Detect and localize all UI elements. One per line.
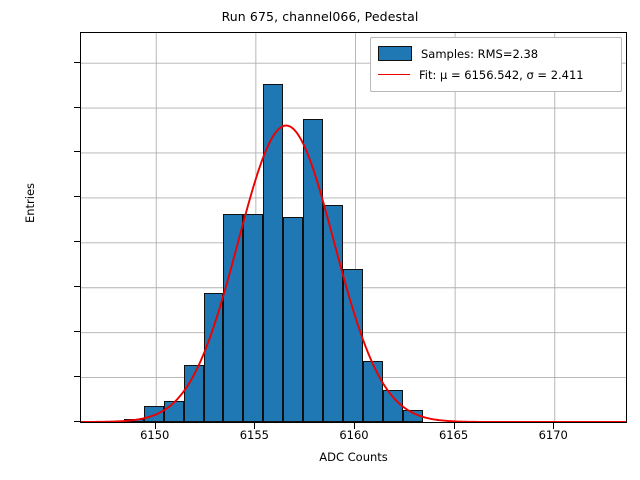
y-tick-mark — [74, 151, 80, 152]
x-axis-label: ADC Counts — [80, 450, 627, 464]
y-tick-mark — [74, 376, 80, 377]
x-tick-mark — [354, 423, 355, 429]
y-tick-mark — [74, 107, 80, 108]
x-tick-mark — [254, 423, 255, 429]
x-tick-label: 6155 — [214, 428, 294, 442]
x-tick-label: 6160 — [314, 428, 394, 442]
legend-label-samples: Samples: RMS=2.38 — [421, 47, 538, 61]
y-tick-mark — [74, 196, 80, 197]
x-tick-mark — [553, 423, 554, 429]
x-tick-label: 6165 — [414, 428, 494, 442]
legend-item-fit: Fit: μ = 6156.542, σ = 2.411 — [378, 64, 614, 85]
y-tick-mark — [74, 331, 80, 332]
x-tick-mark — [454, 423, 455, 429]
legend-patch-icon — [378, 46, 412, 61]
y-tick-mark — [74, 421, 80, 422]
y-tick-mark — [74, 241, 80, 242]
y-tick-mark — [74, 286, 80, 287]
legend-item-samples: Samples: RMS=2.38 — [378, 43, 614, 64]
x-tick-label: 6170 — [513, 428, 593, 442]
legend-label-fit: Fit: μ = 6156.542, σ = 2.411 — [419, 68, 584, 82]
chart-legend: Samples: RMS=2.38 Fit: μ = 6156.542, σ =… — [370, 37, 622, 92]
x-tick-label: 6150 — [115, 428, 195, 442]
legend-line-icon — [378, 74, 410, 75]
y-axis-label: Entries — [23, 143, 37, 263]
x-tick-mark — [155, 423, 156, 429]
figure-canvas: Run 675, channel066, Pedestal 0250500750… — [0, 0, 640, 480]
y-tick-mark — [74, 62, 80, 63]
